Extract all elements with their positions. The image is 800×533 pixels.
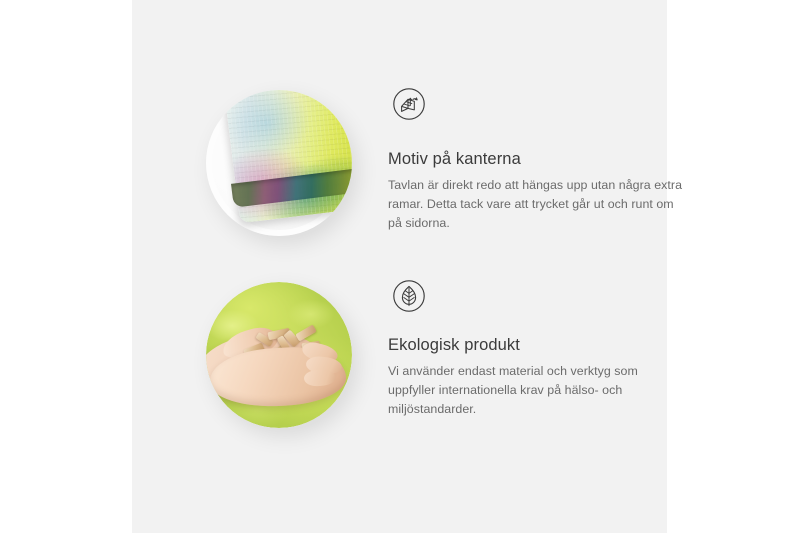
photo-backdrop-grass bbox=[206, 282, 352, 428]
feature-description: Vi använder endast material och verktyg … bbox=[388, 362, 678, 419]
feature-text-1: Motiv på kanterna Tavlan är direkt redo … bbox=[388, 150, 688, 233]
feature-text-2: Ekologisk produkt Vi använder endast mat… bbox=[388, 336, 678, 419]
canvas-wrapped-edges-icon bbox=[389, 84, 429, 124]
feature-title: Motiv på kanterna bbox=[388, 150, 688, 169]
hands-holding-wood-chips-photo bbox=[206, 282, 352, 428]
leaf-icon bbox=[389, 276, 429, 316]
product-feature-panel: Motiv på kanterna Tavlan är direkt redo … bbox=[0, 0, 800, 533]
feature-title: Ekologisk produkt bbox=[388, 336, 678, 355]
content-panel: Motiv på kanterna Tavlan är direkt redo … bbox=[132, 0, 667, 533]
feature-description: Tavlan är direkt redo att hängas upp uta… bbox=[388, 176, 688, 233]
canvas-print-corner-photo bbox=[206, 90, 352, 236]
